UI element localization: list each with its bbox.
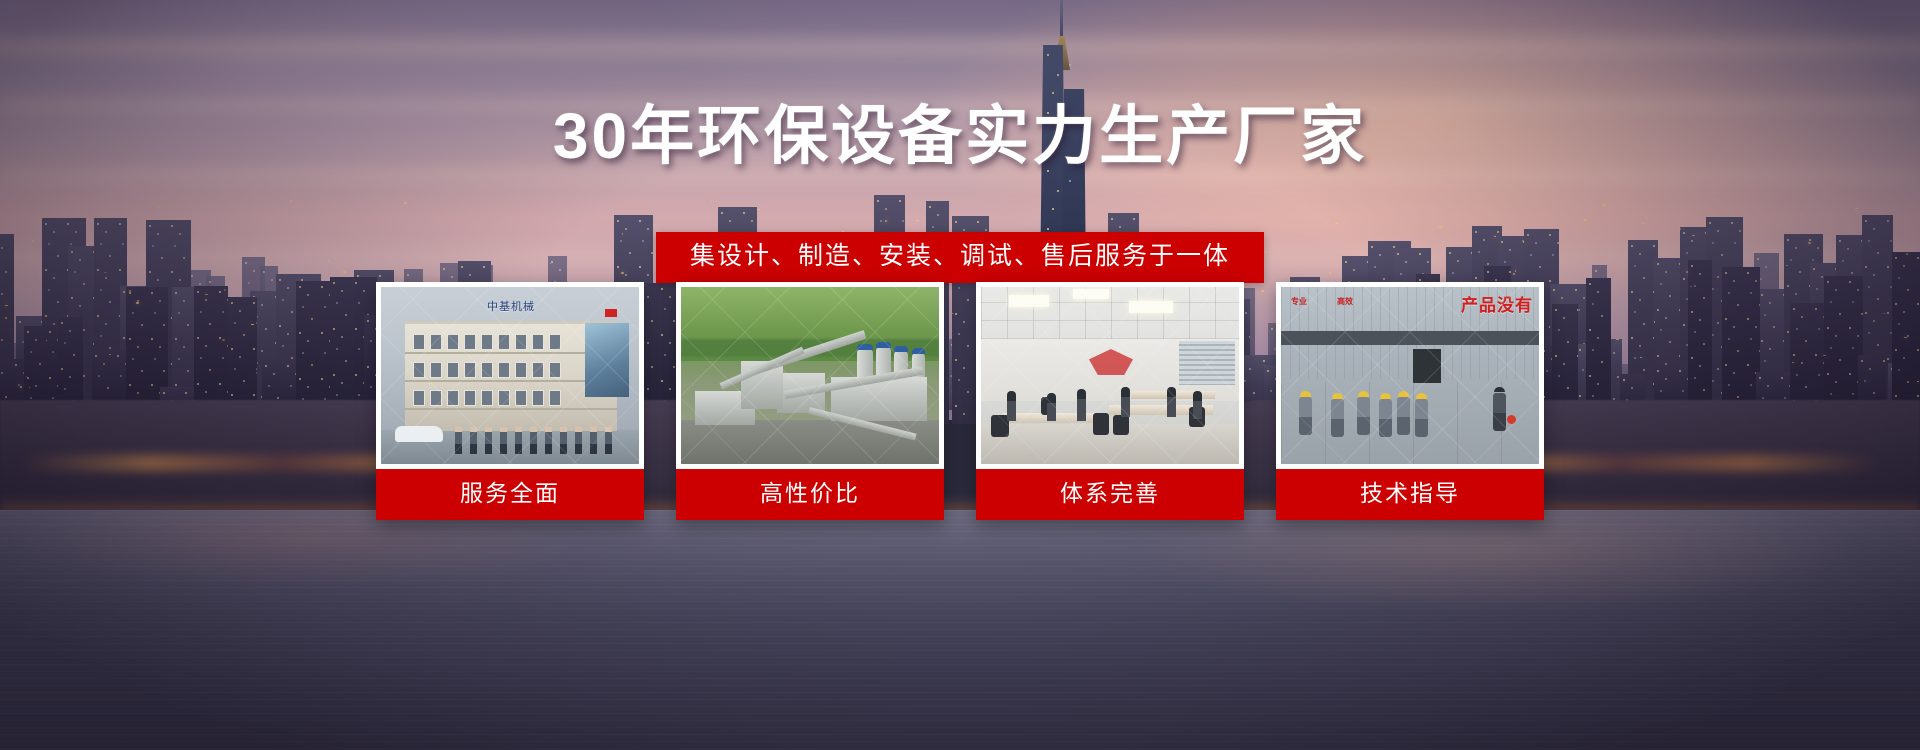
office-chair	[1113, 415, 1129, 435]
person-figure	[500, 427, 507, 454]
building-window	[481, 390, 493, 406]
building-window	[515, 362, 527, 378]
banner-subtitle: 集设计、制造、安装、调试、售后服务于一体	[656, 232, 1264, 283]
person-figure	[1047, 393, 1056, 421]
banner-headline: 30年环保设备实力生产厂家	[0, 104, 1920, 168]
feature-card[interactable]: 中基机械 服务全面	[376, 282, 644, 520]
card-thumbnail-aerial-plant	[681, 287, 939, 464]
card-label: 体系完善	[976, 469, 1244, 520]
building-window	[447, 362, 459, 378]
building-sign-text: 中基机械	[459, 299, 563, 315]
card-label: 技术指导	[1276, 469, 1544, 520]
building-window	[430, 390, 442, 406]
person-figure	[590, 427, 597, 454]
worker-body	[1357, 397, 1370, 435]
banner-content: 30年环保设备实力生产厂家 集设计、制造、安装、调试、售后服务于一体 中基机械 …	[0, 0, 1920, 750]
worker-body	[1397, 397, 1410, 435]
head	[1494, 387, 1505, 392]
building-window	[464, 390, 476, 406]
person-figure	[455, 427, 462, 454]
card-label: 高性价比	[676, 469, 944, 520]
card-thumbnail-office-interior	[981, 287, 1239, 464]
banner-subtitle-wrap: 集设计、制造、安装、调试、售后服务于一体	[0, 232, 1920, 283]
building-window	[447, 390, 459, 406]
person-figure	[515, 427, 522, 454]
building-window	[549, 362, 561, 378]
building-window	[481, 362, 493, 378]
building-window	[549, 390, 561, 406]
plant-silo-cap	[894, 346, 908, 352]
person-figure	[605, 427, 612, 454]
card-thumbnail-factory-workers: 专业 高效 产品没有	[1281, 287, 1539, 464]
ceiling-light	[1129, 301, 1173, 313]
worker-body	[1331, 399, 1344, 437]
building-floor-line	[405, 408, 617, 410]
ceiling-light	[1009, 295, 1049, 307]
person-figure	[1121, 387, 1130, 417]
hero-banner: 30年环保设备实力生产厂家 集设计、制造、安装、调试、售后服务于一体 中基机械 …	[0, 0, 1920, 750]
supervisor-body	[1493, 393, 1506, 431]
building-window	[549, 334, 561, 350]
building-window	[481, 334, 493, 350]
person-figure	[470, 427, 477, 454]
person-figure	[1193, 391, 1202, 419]
building-window	[413, 362, 425, 378]
building-window	[430, 362, 442, 378]
person-figure	[1167, 387, 1176, 417]
feature-card-list: 中基机械 服务全面 高性价比	[0, 282, 1920, 520]
person-figure	[1077, 389, 1086, 421]
worker-body	[1299, 397, 1312, 435]
red-helmet-icon	[1507, 415, 1516, 424]
person-figure	[1007, 391, 1016, 421]
card-thumbnail-office-building: 中基机械	[381, 287, 639, 464]
building-window	[498, 334, 510, 350]
plant-silo-cap	[857, 344, 873, 350]
person-figure	[575, 427, 582, 454]
office-chair	[1093, 413, 1109, 435]
person-figure	[545, 427, 552, 454]
worker-body	[1415, 399, 1428, 437]
building-window	[515, 390, 527, 406]
ceiling-light	[1073, 289, 1109, 299]
plant-silo-cap	[912, 348, 925, 354]
building-window	[498, 362, 510, 378]
factory-sign-text: 产品没有	[1461, 291, 1533, 316]
building-window	[498, 390, 510, 406]
building-window	[447, 334, 459, 350]
card-label: 服务全面	[376, 469, 644, 520]
factory-sign-small: 专业	[1291, 297, 1307, 307]
worker-body	[1379, 399, 1392, 437]
building-window	[430, 334, 442, 350]
feature-card[interactable]: 高性价比	[676, 282, 944, 520]
person-figure	[485, 427, 492, 454]
person-figure	[530, 427, 537, 454]
feature-card[interactable]: 体系完善	[976, 282, 1244, 520]
plant-silo-cap	[876, 342, 891, 348]
building-window	[464, 334, 476, 350]
building-window	[413, 390, 425, 406]
building-window	[532, 362, 544, 378]
factory-sign-small: 高效	[1337, 297, 1353, 307]
building-window	[413, 334, 425, 350]
feature-card[interactable]: 专业 高效 产品没有 技术指导	[1276, 282, 1544, 520]
building-window	[532, 334, 544, 350]
building-window	[532, 390, 544, 406]
person-figure	[560, 427, 567, 454]
building-window	[515, 334, 527, 350]
building-window	[464, 362, 476, 378]
